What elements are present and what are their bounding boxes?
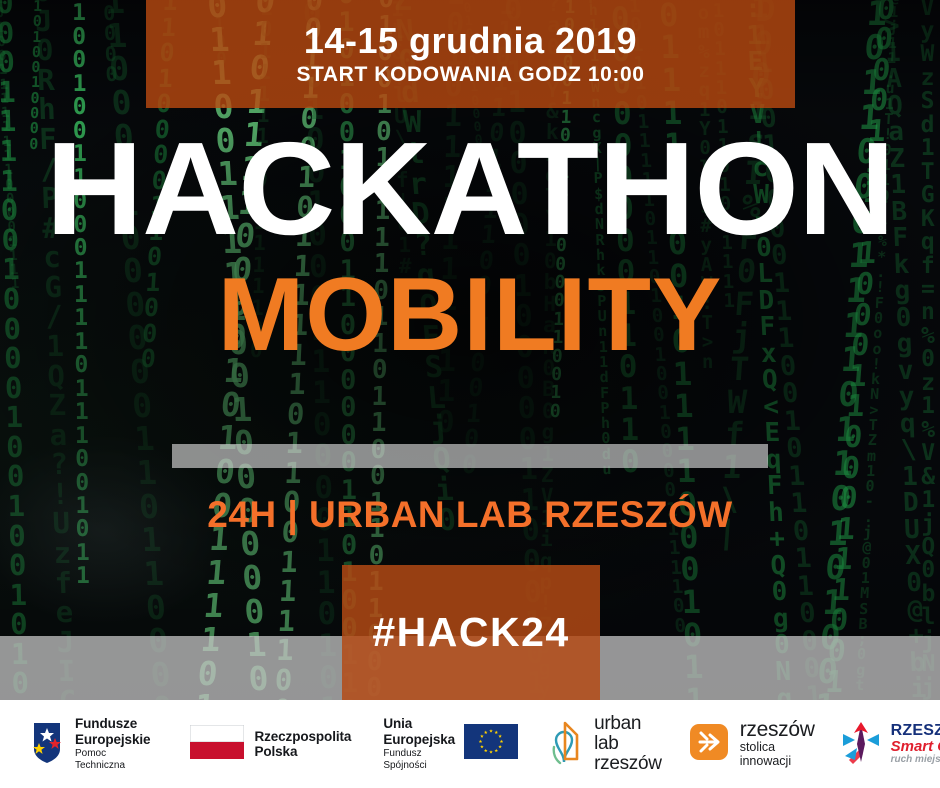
venue-line: 24H | URBAN LAB RZESZÓW [0,494,940,536]
logo-title: Fundusze [75,716,150,731]
smart-city-arrows-icon [837,718,885,771]
hashtag-text: #HACK24 [372,609,569,656]
logo-rzeszow-stolica-innowacji: rzeszów stolica innowacji [688,700,815,788]
logo-title-2: Polska [254,744,351,759]
logo-subtitle: ruch miejski [891,754,940,765]
logo-title-2: Europejskie [75,732,150,747]
event-date: 14-15 grudnia 2019 [304,21,637,61]
sponsor-logo-strip: Fundusze Europejskie Pomoc Techniczna Rz… [0,700,940,788]
logo-rzeczpospolita-polska: Rzeczpospolita Polska [190,700,351,788]
logo-title: rzeszów [740,719,815,740]
headline-block: HACKATHON MOBILITY [0,128,940,367]
title-hackathon: HACKATHON [0,128,940,249]
logo-fundusze-europejskie: Fundusze Europejskie Pomoc Techniczna [28,700,150,788]
logo-subtitle: Fundusz Spójności [383,748,455,772]
urban-lab-mark-icon [546,717,586,772]
logo-subtitle: Pomoc Techniczna [75,748,150,772]
title-mobility: MOBILITY [0,263,940,367]
hackathon-poster: 0 1 0 0 0 1 0 0 1 1 1 0 1 0 0 1 1 1 1 1 … [0,0,940,788]
logo-title: Unia Europejska [383,716,455,747]
eu-flag-icon [464,724,518,764]
logo-title-2: rzeszów [594,754,662,774]
rzeszow-arrow-mark-icon [688,720,732,769]
logo-title: urban lab [594,714,662,754]
polish-flag-icon [190,725,244,764]
date-banner: 14-15 grudnia 2019 START KODOWANIA GODZ … [146,0,795,108]
divider-bar [172,444,768,468]
logo-subtitle: stolica innowacji [740,741,815,769]
logo-unia-europejska: Unia Europejska Fundusz Spójności [383,700,518,788]
logo-rzeszow-smart-city: RZESZÓW Smart City ruch miejski [837,700,940,788]
logo-title: RZESZÓW [891,723,940,739]
hashtag-box: #HACK24 [342,565,600,700]
logo-title: Rzeczpospolita [254,729,351,744]
fundusze-europejskie-icon [28,719,66,770]
logo-urban-lab-rzeszow: urban lab rzeszów [546,700,662,788]
logo-title-2: Smart City [891,739,940,755]
event-start-time: START KODOWANIA GODZ 10:00 [296,63,644,87]
